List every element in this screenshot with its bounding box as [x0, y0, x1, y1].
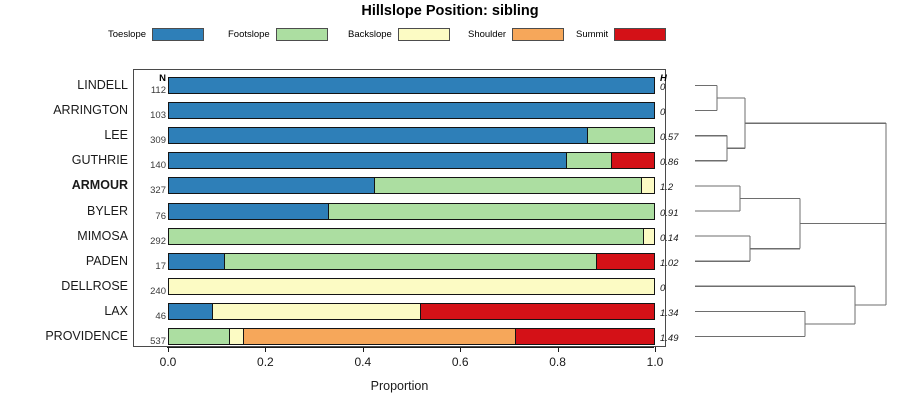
x-axis-label: Proportion	[133, 379, 666, 393]
bar-segment-toeslope	[169, 153, 567, 168]
n-value: 240	[136, 286, 166, 297]
table-row	[168, 253, 655, 270]
y-axis-label-providence: PROVIDENCE	[5, 329, 128, 343]
bar-segment-summit	[597, 254, 654, 269]
table-row	[168, 303, 655, 320]
table-row	[168, 203, 655, 220]
n-value: 76	[136, 211, 166, 222]
table-row	[168, 328, 655, 345]
legend-item-shoulder: Shoulder	[468, 25, 564, 43]
h-value: 0	[660, 82, 665, 93]
table-row	[168, 127, 655, 144]
n-value: 537	[136, 336, 166, 347]
n-value: 327	[136, 185, 166, 196]
bar-segment-footslope	[225, 254, 597, 269]
n-value: 17	[136, 261, 166, 272]
x-tick	[168, 347, 169, 352]
legend-swatch	[276, 28, 328, 41]
legend-swatch	[614, 28, 666, 41]
bar-segment-backslope	[213, 304, 422, 319]
h-value: 1.49	[660, 333, 679, 344]
h-value: 0	[660, 283, 665, 294]
bar-segment-footslope	[567, 153, 612, 168]
bar-segment-summit	[421, 304, 654, 319]
dendrogram	[690, 60, 900, 360]
bar-segment-footslope	[588, 128, 654, 143]
y-axis-label-dellrose: DELLROSE	[5, 279, 128, 293]
h-value: 0	[660, 107, 665, 118]
x-tick	[460, 347, 461, 352]
legend: ToeslopeFootslopeBackslopeShoulderSummit	[108, 25, 708, 43]
h-value: 0.91	[660, 208, 679, 219]
h-value: 0.57	[660, 132, 679, 143]
bar-segment-backslope	[169, 279, 654, 294]
bar-segment-footslope	[169, 229, 644, 244]
h-value: 1.34	[660, 308, 679, 319]
x-tick-label: 0.2	[257, 355, 274, 369]
legend-swatch	[512, 28, 564, 41]
bar-segment-toeslope	[169, 128, 588, 143]
y-axis-label-lindell: LINDELL	[5, 78, 128, 92]
x-tick	[558, 347, 559, 352]
legend-label: Backslope	[348, 29, 392, 40]
h-value: 1.02	[660, 258, 679, 269]
x-tick	[363, 347, 364, 352]
bar-segment-shoulder	[244, 329, 516, 344]
n-value: 309	[136, 135, 166, 146]
legend-label: Shoulder	[468, 29, 506, 40]
n-value: 46	[136, 311, 166, 322]
n-value: 140	[136, 160, 166, 171]
legend-item-toeslope: Toeslope	[108, 25, 204, 43]
legend-swatch	[398, 28, 450, 41]
bar-segment-toeslope	[169, 204, 329, 219]
n-value: 292	[136, 236, 166, 247]
x-tick	[655, 347, 656, 352]
bar-segment-toeslope	[169, 304, 213, 319]
table-row	[168, 228, 655, 245]
y-axis-label-lee: LEE	[5, 128, 128, 142]
legend-label: Footslope	[228, 29, 270, 40]
bar-segment-toeslope	[169, 103, 654, 118]
legend-label: Summit	[576, 29, 608, 40]
y-axis-label-byler: BYLER	[5, 204, 128, 218]
n-value: 103	[136, 110, 166, 121]
x-tick	[265, 347, 266, 352]
table-row	[168, 77, 655, 94]
bar-segment-toeslope	[169, 178, 375, 193]
hillslope-position-figure: Hillslope Position: sibling ToeslopeFoot…	[0, 0, 900, 420]
bar-segment-summit	[612, 153, 654, 168]
bar-segment-summit	[516, 329, 654, 344]
bar-segment-backslope	[642, 178, 654, 193]
n-value: 112	[136, 85, 166, 96]
legend-item-summit: Summit	[576, 25, 666, 43]
x-tick-label: 0.4	[354, 355, 371, 369]
y-axis-label-guthrie: GUTHRIE	[5, 153, 128, 167]
x-tick-label: 0.6	[452, 355, 469, 369]
x-tick-label: 0.8	[549, 355, 566, 369]
x-tick-label: 0.0	[160, 355, 177, 369]
bar-segment-toeslope	[169, 78, 654, 93]
n-column-header: N	[136, 73, 166, 84]
y-axis-label-paden: PADEN	[5, 254, 128, 268]
table-row	[168, 102, 655, 119]
bar-segment-footslope	[375, 178, 642, 193]
bar-segment-toeslope	[169, 254, 225, 269]
legend-item-backslope: Backslope	[348, 25, 450, 43]
bar-segment-footslope	[329, 204, 654, 219]
x-axis: 0.00.20.40.60.81.0	[133, 347, 666, 348]
legend-swatch	[152, 28, 204, 41]
page-title: Hillslope Position: sibling	[0, 3, 900, 19]
bar-segment-backslope	[230, 329, 245, 344]
h-value: 0.14	[660, 233, 679, 244]
y-axis-label-arrington: ARRINGTON	[5, 103, 128, 117]
legend-label: Toeslope	[108, 29, 146, 40]
y-axis-label-armour: ARMOUR	[5, 178, 128, 192]
h-value: 1.2	[660, 182, 673, 193]
h-value: 0.86	[660, 157, 679, 168]
bar-segment-footslope	[169, 329, 230, 344]
y-axis-label-lax: LAX	[5, 304, 128, 318]
table-row	[168, 152, 655, 169]
table-row	[168, 278, 655, 295]
table-row	[168, 177, 655, 194]
x-axis-line	[167, 347, 654, 348]
bar-segment-backslope	[644, 229, 654, 244]
y-axis-label-mimosa: MIMOSA	[5, 229, 128, 243]
legend-item-footslope: Footslope	[228, 25, 328, 43]
x-tick-label: 1.0	[647, 355, 664, 369]
